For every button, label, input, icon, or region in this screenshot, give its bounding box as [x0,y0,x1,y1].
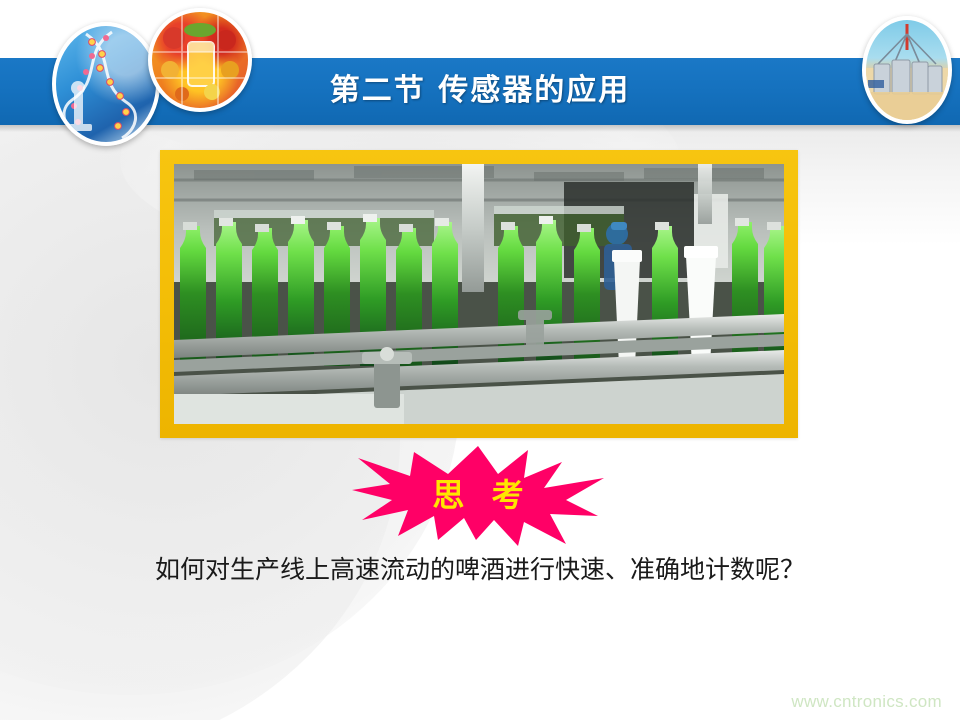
think-star-shape [352,444,604,546]
dna-microscope-icon [52,22,160,146]
production-line-photo [174,164,784,424]
watermark-url: www.cntronics.com [791,692,942,712]
grain-silo-icon [862,16,952,124]
photo-frame [160,150,798,438]
slide-canvas: 第二节 传感器的应用 [0,0,960,720]
question-text: 如何对生产线上高速流动的啤酒进行快速、准确地计数呢？ [0,550,960,586]
food-beverage-icon [148,8,252,112]
